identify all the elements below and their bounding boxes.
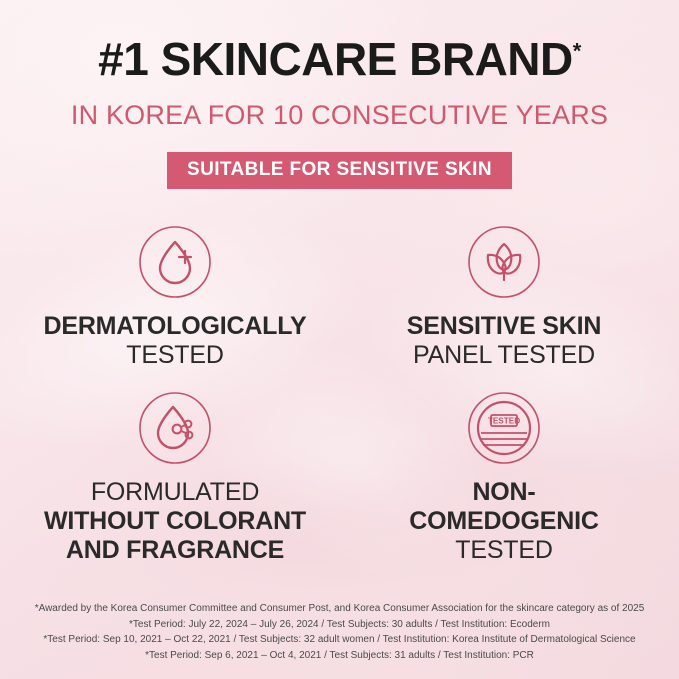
feature-line-3: TESTED — [339, 536, 669, 565]
feature-line-2: WITHOUT COLORANT — [10, 507, 340, 536]
droplet-plus-icon — [133, 220, 217, 304]
headline-asterisk: * — [573, 39, 581, 64]
feature-line-1: NON- — [339, 478, 669, 507]
status-badge: SUITABLE FOR SENSITIVE SKIN — [167, 152, 512, 189]
tested-pore-circle-icon: TESTED — [462, 386, 546, 470]
feature-line-1: DERMATOLOGICALLY — [10, 312, 340, 341]
feature-line-2: COMEDOGENIC — [339, 507, 669, 536]
icon-container — [339, 220, 669, 304]
feature-label: SENSITIVE SKIN PANEL TESTED — [339, 312, 669, 370]
footnote-line: *Test Period: July 22, 2024 – July 26, 2… — [0, 617, 679, 633]
footnotes: *Awarded by the Korea Consumer Committee… — [0, 601, 679, 663]
feature-line-2: TESTED — [10, 341, 340, 370]
product-claims-poster: #1 SKINCARE BRAND* IN KOREA FOR 10 CONSE… — [0, 0, 679, 679]
icon-container — [10, 220, 340, 304]
feature-line-1: FORMULATED — [10, 478, 340, 507]
feature-item-sensitive-skin-panel-tested: SENSITIVE SKIN PANEL TESTED — [339, 220, 669, 370]
feature-item-non-comedogenic-tested: TESTED NON- COMEDOGENIC TESTED — [339, 386, 669, 565]
feature-line-3: AND FRAGRANCE — [10, 536, 340, 565]
icon-container: TESTED — [339, 386, 669, 470]
feature-label: NON- COMEDOGENIC TESTED — [339, 478, 669, 565]
footnote-line: *Awarded by the Korea Consumer Committee… — [0, 601, 679, 617]
feature-item-dermatologically-tested: DERMATOLOGICALLY TESTED — [10, 220, 340, 370]
icon-container — [10, 386, 340, 470]
subheadline: IN KOREA FOR 10 CONSECUTIVE YEARS — [0, 100, 679, 131]
droplet-molecule-icon — [133, 386, 217, 470]
footnote-line: *Test Period: Sep 10, 2021 – Oct 22, 202… — [0, 632, 679, 648]
feature-item-formulated-without-colorant-and-fragrance: FORMULATED WITHOUT COLORANT AND FRAGRANC… — [10, 386, 340, 565]
tested-stamp-text: TESTED — [488, 417, 520, 426]
feature-line-1: SENSITIVE SKIN — [339, 312, 669, 341]
headline-text: #1 SKINCARE BRAND — [98, 33, 573, 85]
feature-line-2: PANEL TESTED — [339, 341, 669, 370]
feature-grid: DERMATOLOGICALLY TESTED SENSITIVE S — [0, 214, 679, 594]
ribbon-container: SUITABLE FOR SENSITIVE SKIN — [0, 152, 679, 189]
feature-label: DERMATOLOGICALLY TESTED — [10, 312, 340, 370]
footnote-line: *Test Period: Sep 6, 2021 – Oct 4, 2021 … — [0, 648, 679, 664]
three-leaf-clover-icon — [462, 220, 546, 304]
page-title: #1 SKINCARE BRAND* — [0, 32, 679, 86]
feature-label: FORMULATED WITHOUT COLORANT AND FRAGRANC… — [10, 478, 340, 565]
